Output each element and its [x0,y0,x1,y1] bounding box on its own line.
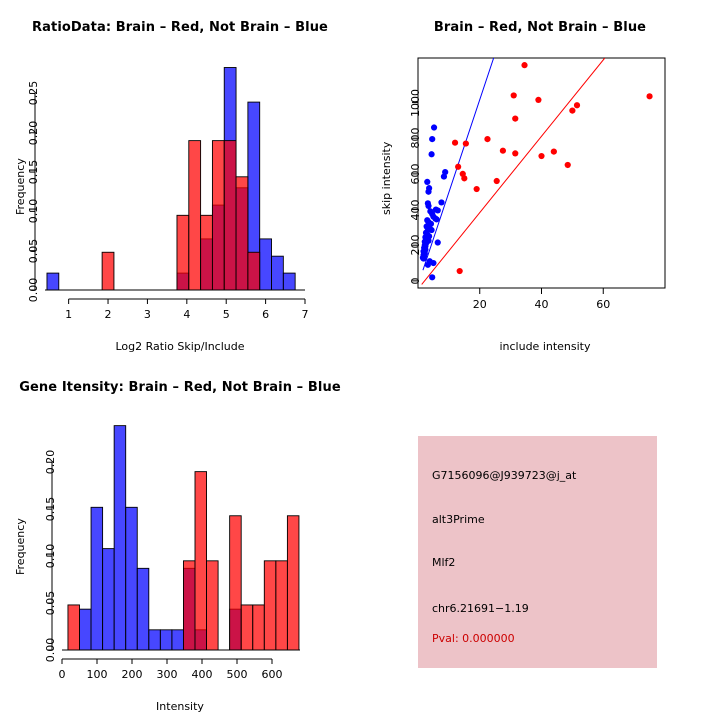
panel1-x-axis-label: Log2 Ratio Skip/Include [40,340,320,353]
x-tick-label: 100 [87,668,108,681]
y-tick-label: 200 [409,235,422,256]
scatter-point [474,186,480,192]
y-tick-label: 0.15 [44,497,57,522]
scatter-point [455,164,461,170]
histogram-bar [172,630,184,650]
histogram-bar [224,141,236,290]
scatter-point [428,151,434,157]
scatter-point [438,199,444,205]
y-tick-label: 0.05 [27,238,40,263]
y-tick-label: 0.25 [27,81,40,106]
histogram-bar [212,141,224,290]
scatter-point [500,148,506,154]
scatter-point [494,178,500,184]
scatter-point [435,207,441,213]
scatter-point [431,124,437,130]
x-tick-label: 300 [157,668,178,681]
histogram-bar [160,630,172,650]
x-tick-label: 6 [262,308,269,321]
histogram-bar [126,507,138,650]
regression-line-red-fit [422,58,605,284]
histogram-bar [47,273,59,290]
scatter-point [535,97,541,103]
panel-gene-intensity-histogram: Gene Itensity: Brain – Red, Not Brain – … [0,360,360,720]
x-tick-label: 20 [473,298,487,311]
y-tick-label: 400 [409,199,422,220]
histogram-bar [137,568,149,650]
y-tick-label: 0 [409,277,422,284]
plot-canvas: RatioData: Brain – Red, Not Brain – Blue… [0,0,720,720]
x-tick-label: 60 [596,298,610,311]
x-tick-label: 200 [122,668,143,681]
scatter-point [425,189,431,195]
scatter-point [424,179,430,185]
histogram-bar [102,252,114,290]
panel1-plot-area [0,0,360,330]
y-tick-label: 0.00 [44,638,57,663]
histogram-bar [68,605,80,650]
y-tick-label: 0.15 [27,160,40,185]
gene-symbol-text: Mlf2 [432,556,455,569]
scatter-point [428,227,434,233]
y-tick-label: 800 [409,128,422,149]
y-tick-label: 0.10 [44,544,57,569]
x-tick-label: 400 [192,668,213,681]
histogram-bar [287,516,299,650]
probe-id-text: G7156096@J939723@j_at [432,469,576,482]
histogram-bar [264,561,276,650]
histogram-bar [236,177,248,290]
histogram-bar [80,609,92,650]
gene-info-box: G7156096@J939723@j_at alt3Prime Mlf2 chr… [418,436,657,668]
x-tick-label: 0 [59,668,66,681]
scatter-point [512,150,518,156]
histogram-bar [253,605,265,650]
scatter-point [433,216,439,222]
histogram-bar [189,141,201,290]
pval-text: Pval: 0.000000 [432,632,515,645]
locus-text: chr6.21691−1.19 [432,602,529,615]
scatter-point [551,149,557,155]
scatter-point [512,116,518,122]
panel3-x-axis-label: Intensity [40,700,320,713]
scatter-point [429,274,435,280]
scatter-point [521,62,527,68]
panel-intensity-scatter: Brain – Red, Not Brain – Blue skip inten… [360,0,720,360]
histogram-bar [103,549,115,650]
histogram-bar [241,605,253,650]
scatter-point [429,136,435,142]
x-tick-label: 1 [65,308,72,321]
scatter-point [425,262,431,268]
scatter-point [425,203,431,209]
y-tick-label: 600 [409,163,422,184]
y-tick-label: 0.10 [27,199,40,224]
scatter-point [574,102,580,108]
y-tick-label: 1000 [409,89,422,117]
x-tick-label: 7 [302,308,309,321]
histogram-bar [91,507,103,650]
x-tick-label: 4 [183,308,190,321]
scatter-point [461,175,467,181]
histogram-bar [260,239,272,290]
histogram-bar [283,273,295,290]
x-tick-label: 5 [223,308,230,321]
y-tick-label: 0.05 [44,591,57,616]
x-tick-label: 3 [144,308,151,321]
y-tick-label: 0.00 [27,278,40,303]
histogram-bar [177,215,189,290]
histogram-bar [195,472,207,650]
event-type-text: alt3Prime [432,513,485,526]
scatter-point [420,255,426,261]
histogram-bar [276,561,288,650]
histogram-bar [248,252,260,290]
histogram-bar [114,426,126,650]
x-tick-label: 40 [535,298,549,311]
scatter-point [457,268,463,274]
histogram-bar [207,561,219,650]
histogram-bar [230,516,242,650]
scatter-point [484,136,490,142]
x-tick-label: 600 [262,668,283,681]
scatter-point [511,92,517,98]
scatter-point [463,140,469,146]
y-tick-label: 0.20 [27,121,40,146]
x-tick-label: 500 [227,668,248,681]
histogram-bar [201,215,213,290]
y-tick-label: 0.20 [44,450,57,475]
histogram-bar [272,256,284,290]
panel2-x-axis-label: include intensity [400,340,690,353]
scatter-point [430,260,436,266]
scatter-point [569,108,575,114]
scatter-point [565,162,571,168]
scatter-point [538,153,544,159]
x-tick-label: 2 [105,308,112,321]
histogram-bar [149,630,161,650]
panel-ratio-histogram: RatioData: Brain – Red, Not Brain – Blue… [0,0,360,360]
scatter-point [435,239,441,245]
scatter-point [452,140,458,146]
scatter-point [646,93,652,99]
scatter-point [441,173,447,179]
histogram-bar [183,561,195,650]
